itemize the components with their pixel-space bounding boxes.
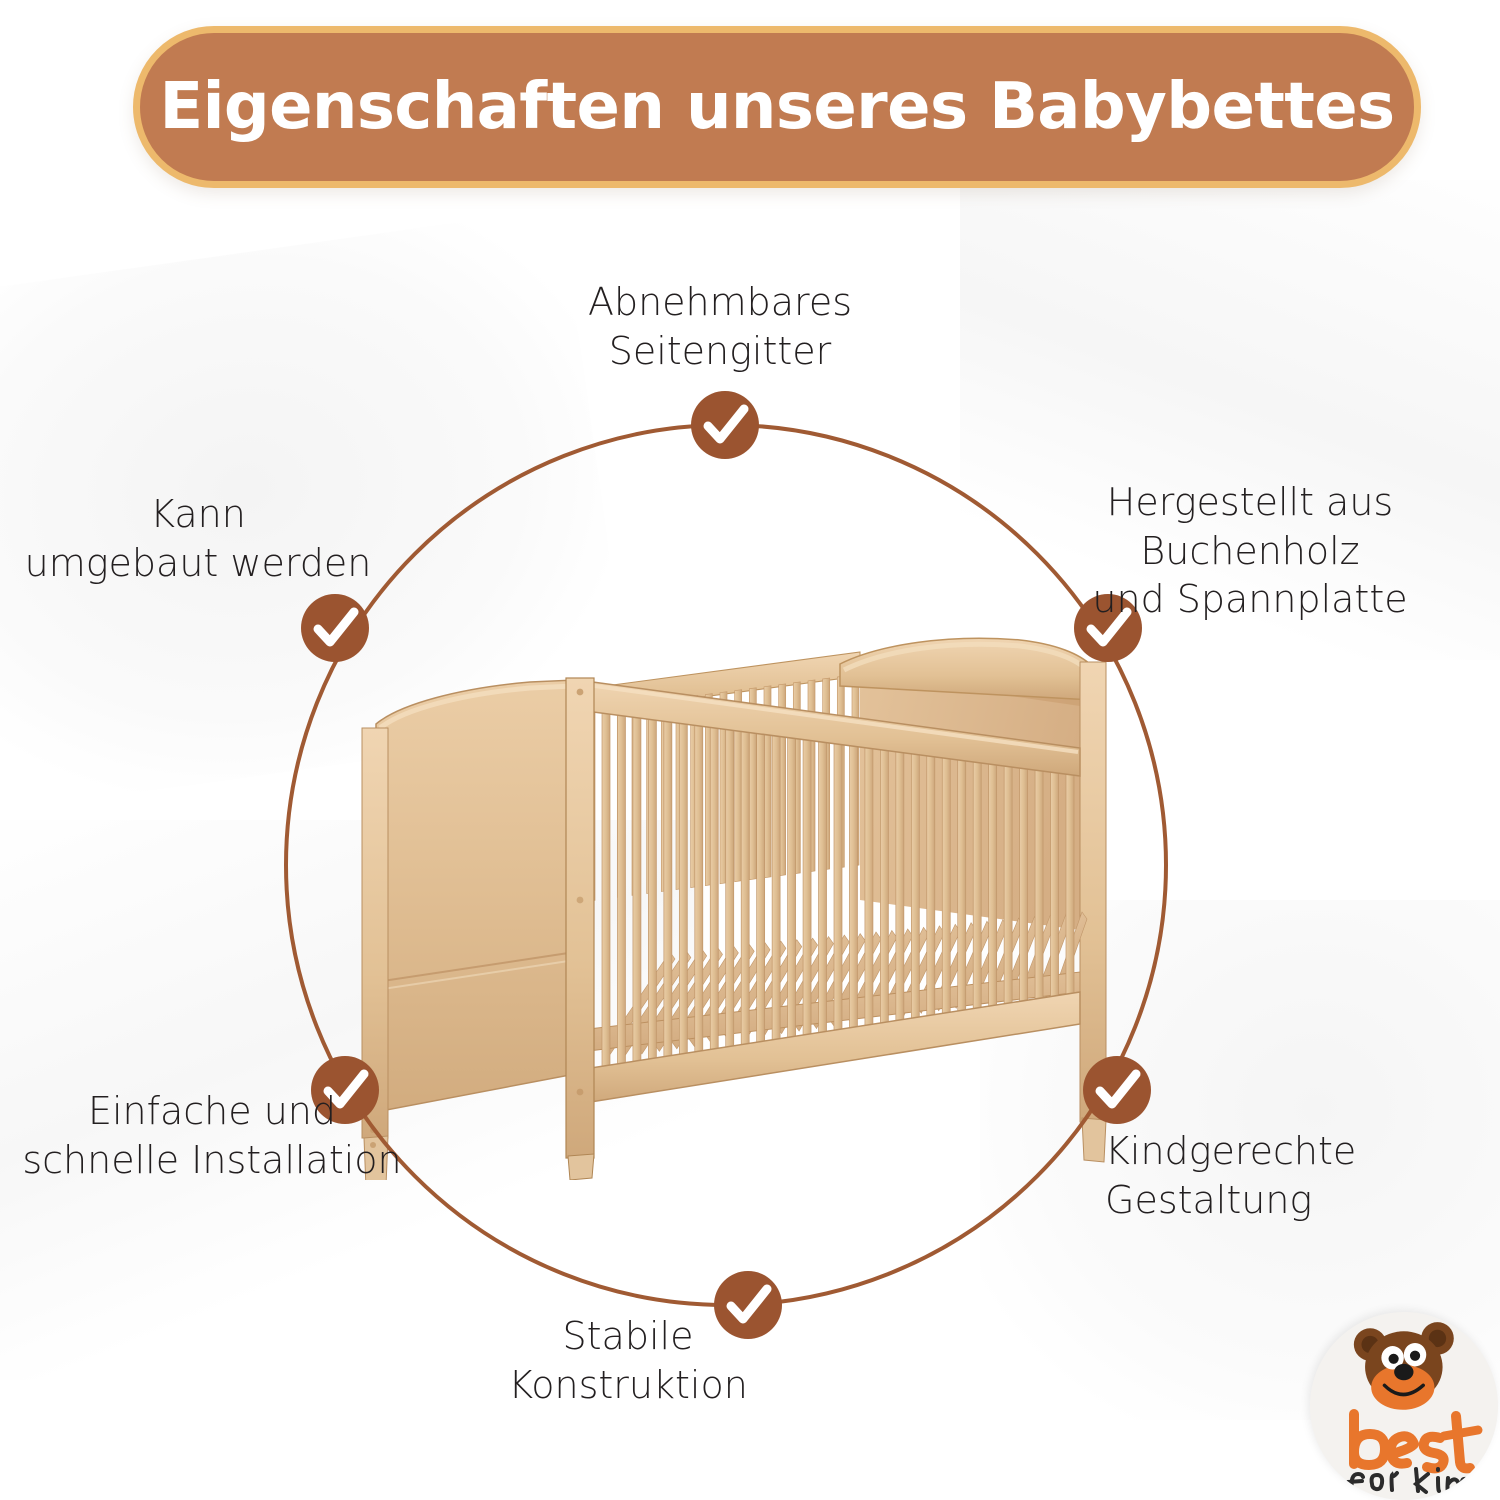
brand-logo-best-for-kids [1310,1312,1498,1500]
badge-circle [301,594,369,662]
brand-wordmark [1354,1414,1478,1468]
feature-label-kann-umgebaut-werden: Kann umgebaut werden [8,490,388,587]
infographic-canvas: Eigenschaften unseres Babybettes [0,0,1500,1500]
bear-head-icon [1354,1322,1454,1410]
feature-label-abnehmbares-seitengitter: Abnehmbares Seitengitter [470,278,970,375]
badge-circle [691,391,759,459]
feature-badge-abnehmbares-seitengitter[interactable] [691,391,759,459]
feature-badge-kann-umgebaut-werden[interactable] [301,594,369,662]
feature-label-stabile-konstruktion: Stabile Konstruktion [438,1312,818,1409]
feature-label-einfache-schnelle-installation: Einfache und schnelle Installation [22,1087,402,1184]
feature-label-kindgerechte-gestaltung: Kindgerechte Gestaltung [1105,1127,1485,1224]
feature-badge-kindgerechte-gestaltung[interactable] [1083,1056,1151,1124]
feature-label-hergestellt-aus-buchenholz: Hergestellt aus Buchenholz und Spannplat… [1000,478,1500,624]
badge-circle [1083,1056,1151,1124]
feature-ring [0,0,1500,1500]
